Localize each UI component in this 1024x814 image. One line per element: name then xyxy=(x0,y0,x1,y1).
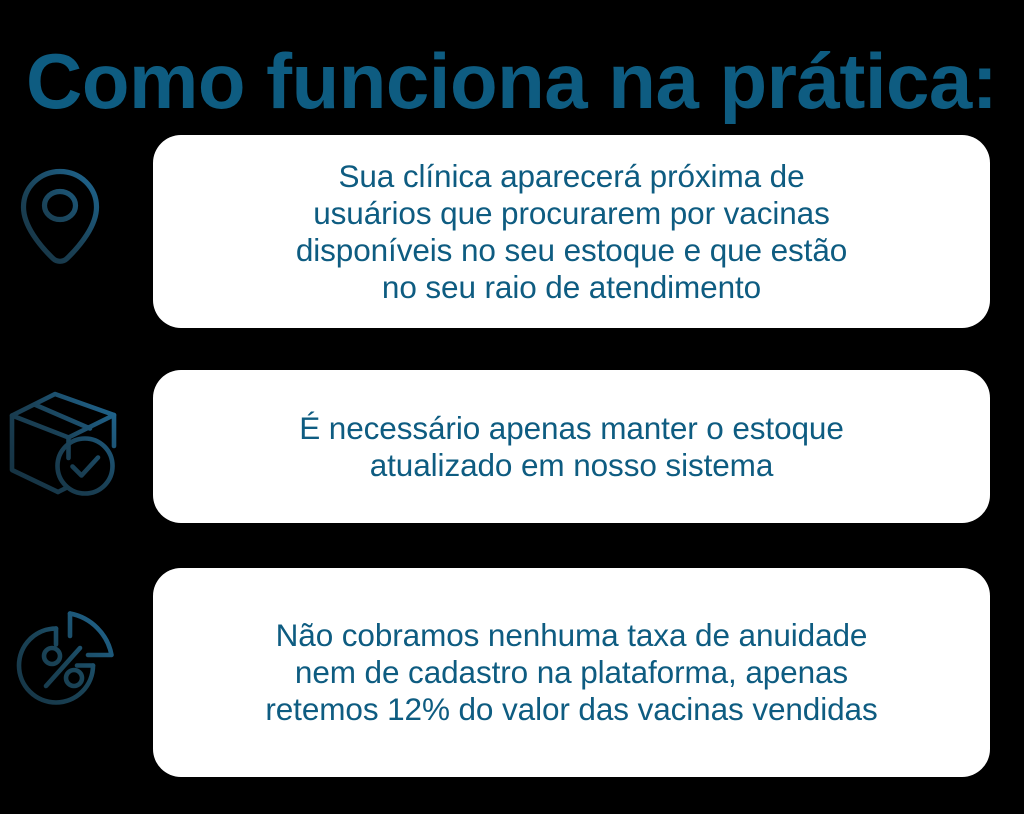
feature-card-3-text: Não cobramos nenhuma taxa de anuidade ne… xyxy=(265,617,877,728)
feature-card-3: Não cobramos nenhuma taxa de anuidade ne… xyxy=(153,568,990,777)
feature-row-3: Não cobramos nenhuma taxa de anuidade ne… xyxy=(0,0,1024,790)
pie-chart-percent-icon xyxy=(4,600,128,724)
infographic-root: Como funciona na prática: Sua clínica ap… xyxy=(0,0,1024,814)
